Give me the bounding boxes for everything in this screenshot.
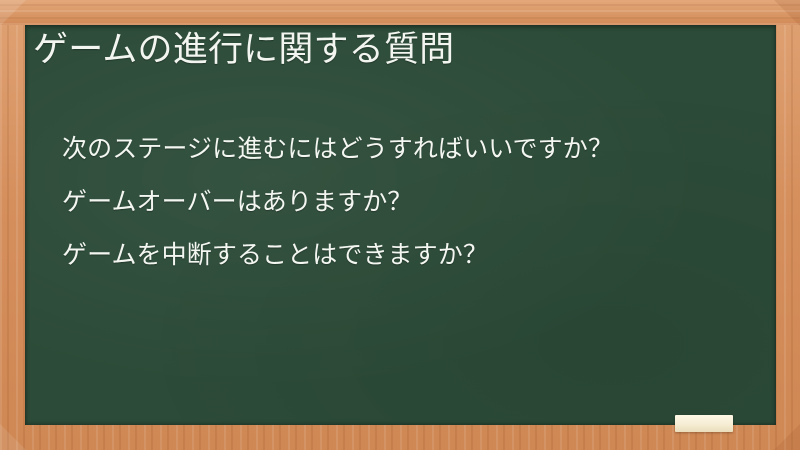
blackboard-scene: ゲームの進行に関する質問 次のステージに進むにはどうすればいいですか？ ゲームオ… [0, 0, 800, 450]
chalkboard-surface: ゲームの進行に関する質問 次のステージに進むにはどうすればいいですか？ ゲームオ… [25, 25, 776, 425]
chalkboard-content: ゲームの進行に関する質問 次のステージに進むにはどうすればいいですか？ ゲームオ… [25, 25, 776, 425]
frame-corner-bottom-right [774, 424, 800, 450]
board-title: ゲームの進行に関する質問 [33, 29, 454, 73]
question-item: 次のステージに進むにはどうすればいいですか？ [62, 122, 613, 175]
question-item: ゲームオーバーはありますか？ [62, 175, 613, 228]
frame-corner-bottom-left [0, 424, 26, 450]
frame-top-rail [0, 0, 800, 25]
chalk-stick [675, 415, 733, 432]
question-list: 次のステージに進むにはどうすればいいですか？ ゲームオーバーはありますか？ ゲー… [62, 122, 613, 281]
question-item: ゲームを中断することはできますか？ [62, 228, 613, 281]
